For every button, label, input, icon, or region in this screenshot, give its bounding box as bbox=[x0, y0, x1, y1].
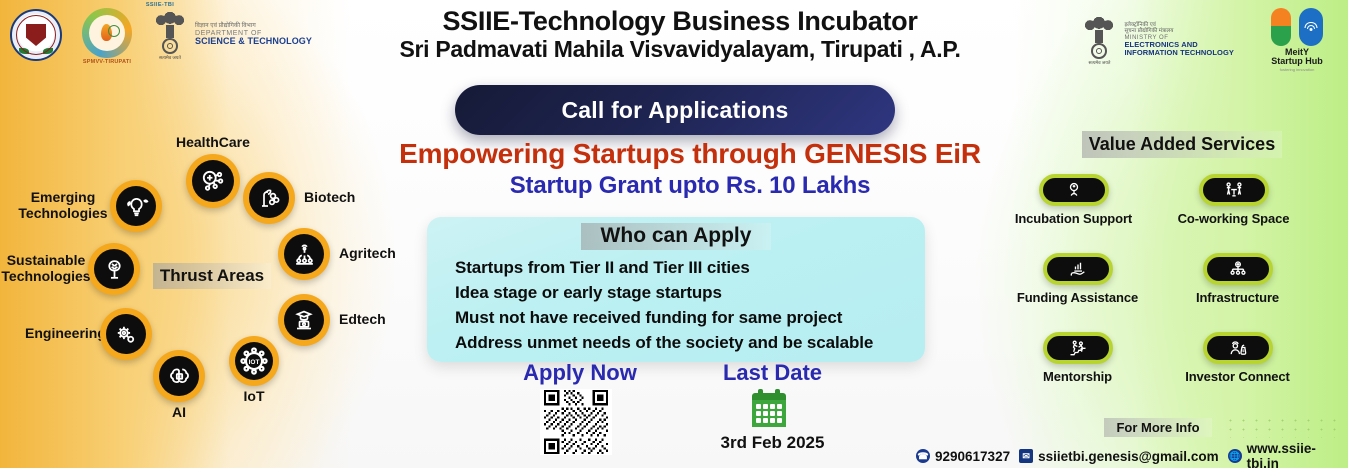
list-item: Startups from Tier II and Tier III citie… bbox=[455, 256, 925, 281]
thrust-areas-label: Thrust Areas bbox=[153, 263, 271, 289]
agritech-icon bbox=[278, 228, 330, 280]
thrust-area-ai[interactable]: AI AI bbox=[153, 350, 205, 421]
thrust-label-engineering: Engineering bbox=[25, 326, 106, 342]
dst-logo-icon: सत्यमेव जयते विज्ञान एवं प्रौद्योगिकी वि… bbox=[150, 9, 312, 61]
list-item: Idea stage or early stage startups bbox=[455, 281, 925, 306]
thrust-label-healthcare: HealthCare bbox=[176, 135, 250, 151]
thrust-area-sustainable-technologies[interactable]: Sustainable Technologies bbox=[0, 243, 140, 295]
last-date-value: 3rd Feb 2025 bbox=[690, 433, 855, 453]
contact-website[interactable]: 🌐 www.ssiie-tbi.in bbox=[1228, 441, 1348, 468]
vas-investor-connect[interactable]: $ Investor Connect bbox=[1175, 332, 1300, 384]
vas-label-infrastructure: Infrastructure bbox=[1175, 290, 1300, 305]
decorative-dot-grid bbox=[1224, 416, 1344, 438]
thrust-label-ai: AI bbox=[172, 405, 186, 421]
phone-icon: ☎ bbox=[916, 449, 930, 463]
vas-coworking-space[interactable]: Co-working Space bbox=[1171, 174, 1296, 226]
apply-now-label: Apply Now bbox=[500, 360, 660, 386]
healthcare-icon bbox=[186, 154, 240, 208]
thrust-area-healthcare[interactable]: HealthCare bbox=[176, 135, 250, 208]
headline-secondary: Startup Grant upto Rs. 10 Lakhs bbox=[330, 172, 1050, 200]
vas-label-mentorship: Mentorship bbox=[1015, 369, 1140, 384]
sustainable-tech-icon bbox=[88, 243, 140, 295]
vas-label-coworking: Co-working Space bbox=[1171, 211, 1296, 226]
coworking-icon bbox=[1199, 174, 1269, 206]
emerging-tech-icon bbox=[110, 180, 162, 232]
last-date-label: Last Date bbox=[690, 360, 855, 386]
thrust-area-emerging-technologies[interactable]: Emerging Technologies bbox=[14, 180, 162, 232]
vas-mentorship[interactable]: Mentorship bbox=[1015, 332, 1140, 384]
svg-text:$: $ bbox=[1242, 349, 1244, 353]
thrust-label-edtech: Edtech bbox=[339, 312, 386, 328]
vas-label-funding: Funding Assistance bbox=[1015, 290, 1140, 305]
investor-icon: $ bbox=[1203, 332, 1273, 364]
mail-icon: ✉ bbox=[1019, 449, 1033, 463]
website-url: www.ssiie-tbi.in bbox=[1247, 441, 1348, 468]
iot-icon: IOT bbox=[229, 336, 279, 386]
value-added-services-label: Value Added Services bbox=[1082, 131, 1282, 158]
meity-startup-hub-logo-icon: MeitY Startup Hub fostering innovation bbox=[1256, 8, 1338, 72]
qr-code-icon bbox=[540, 389, 612, 455]
list-item: Must not have received funding for same … bbox=[455, 306, 925, 331]
poster-canvas: SSIIE-TBI SPMVV-TIRUPATI सत्यमेव जयते वि… bbox=[0, 0, 1348, 468]
edtech-icon bbox=[278, 294, 330, 346]
meity-logo-icon: सत्यमेव जयते इलेक्ट्रॉनिकी एवं सूचना प्र… bbox=[1079, 14, 1234, 66]
phone-number: 9290617327 bbox=[935, 449, 1010, 464]
dst-line2: SCIENCE & TECHNOLOGY bbox=[195, 37, 312, 46]
globe-icon: 🌐 bbox=[1228, 449, 1242, 463]
thrust-label-agritech: Agritech bbox=[339, 246, 396, 262]
spmvv-university-seal-icon bbox=[8, 4, 64, 66]
header-right-logos: सत्यमेव जयते इलेक्ट्रॉनिकी एवं सूचना प्र… bbox=[1079, 8, 1338, 72]
contact-phone[interactable]: ☎ 9290617327 bbox=[916, 449, 1010, 464]
contact-row: ☎ 9290617327 ✉ ssiietbi.genesis@gmail.co… bbox=[916, 441, 1348, 468]
mentorship-icon bbox=[1043, 332, 1113, 364]
ai-icon: AI bbox=[153, 350, 205, 402]
svg-text:IOT: IOT bbox=[249, 359, 260, 366]
biotech-icon bbox=[243, 172, 295, 224]
thrust-area-biotech[interactable]: Biotech bbox=[243, 172, 355, 224]
vas-funding-assistance[interactable]: Funding Assistance bbox=[1015, 253, 1140, 305]
vas-label-investor: Investor Connect bbox=[1175, 369, 1300, 384]
eligibility-list: Startups from Tier II and Tier III citie… bbox=[455, 256, 925, 356]
ssiie-caption: SPMVV-TIRUPATI bbox=[74, 59, 140, 65]
msh-title-2: Startup Hub bbox=[1256, 57, 1338, 66]
infrastructure-icon bbox=[1203, 253, 1273, 285]
contact-email[interactable]: ✉ ssiietbi.genesis@gmail.com bbox=[1019, 449, 1218, 464]
ssiie-arc-text: SSIIE-TBI bbox=[8, 2, 312, 8]
qr-code[interactable] bbox=[540, 389, 612, 455]
thrust-area-engineering[interactable]: Engineering bbox=[25, 308, 152, 360]
list-item: Address unmet needs of the society and b… bbox=[455, 331, 925, 356]
ashoka-emblem-icon-2: सत्यमेव जयते bbox=[1079, 14, 1119, 66]
funding-icon bbox=[1043, 253, 1113, 285]
page-title: SSIIE-Technology Business Incubator bbox=[330, 6, 1030, 36]
meity-motto: सत्यमेव जयते bbox=[1088, 60, 1110, 66]
thrust-area-agritech[interactable]: Agritech bbox=[278, 228, 396, 280]
header-left-logos: SSIIE-TBI SPMVV-TIRUPATI सत्यमेव जयते वि… bbox=[8, 4, 312, 66]
engineering-icon bbox=[100, 308, 152, 360]
meity-line3: INFORMATION TECHNOLOGY bbox=[1124, 49, 1234, 57]
for-more-info-label: For More Info bbox=[1104, 418, 1212, 437]
thrust-label-emerging: Emerging Technologies bbox=[14, 190, 112, 222]
headline-primary: Empowering Startups through GENESIS EiR bbox=[330, 138, 1050, 170]
call-for-applications-button[interactable]: Call for Applications bbox=[455, 85, 895, 135]
who-can-apply-panel: Who can Apply Startups from Tier II and … bbox=[427, 217, 925, 362]
thrust-label-sustainable: Sustainable Technologies bbox=[0, 253, 92, 285]
svg-text:AI: AI bbox=[177, 374, 181, 378]
thrust-area-edtech[interactable]: Edtech bbox=[278, 294, 386, 346]
incubation-icon bbox=[1039, 174, 1109, 206]
ssiie-tbi-logo-icon: SSIIE-TBI SPMVV-TIRUPATI bbox=[74, 6, 140, 65]
who-can-apply-title: Who can Apply bbox=[581, 223, 771, 250]
thrust-label-iot: IoT bbox=[244, 389, 265, 405]
header-title-block: SSIIE-Technology Business Incubator Sri … bbox=[330, 6, 1030, 63]
thrust-label-biotech: Biotech bbox=[304, 190, 355, 206]
calendar-icon bbox=[752, 393, 786, 427]
vas-label-incubation: Incubation Support bbox=[1011, 211, 1136, 226]
page-subtitle: Sri Padmavati Mahila Visvavidyalayam, Ti… bbox=[330, 36, 1030, 62]
ashoka-emblem-icon: सत्यमेव जयते bbox=[150, 9, 190, 61]
msh-tagline: fostering innovation bbox=[1256, 67, 1338, 72]
dst-motto: सत्यमेव जयते bbox=[159, 55, 181, 61]
vas-infrastructure[interactable]: Infrastructure bbox=[1175, 253, 1300, 305]
vas-incubation-support[interactable]: Incubation Support bbox=[1011, 174, 1136, 226]
thrust-area-iot[interactable]: IOT IoT bbox=[229, 336, 279, 405]
email-address: ssiietbi.genesis@gmail.com bbox=[1038, 449, 1218, 464]
